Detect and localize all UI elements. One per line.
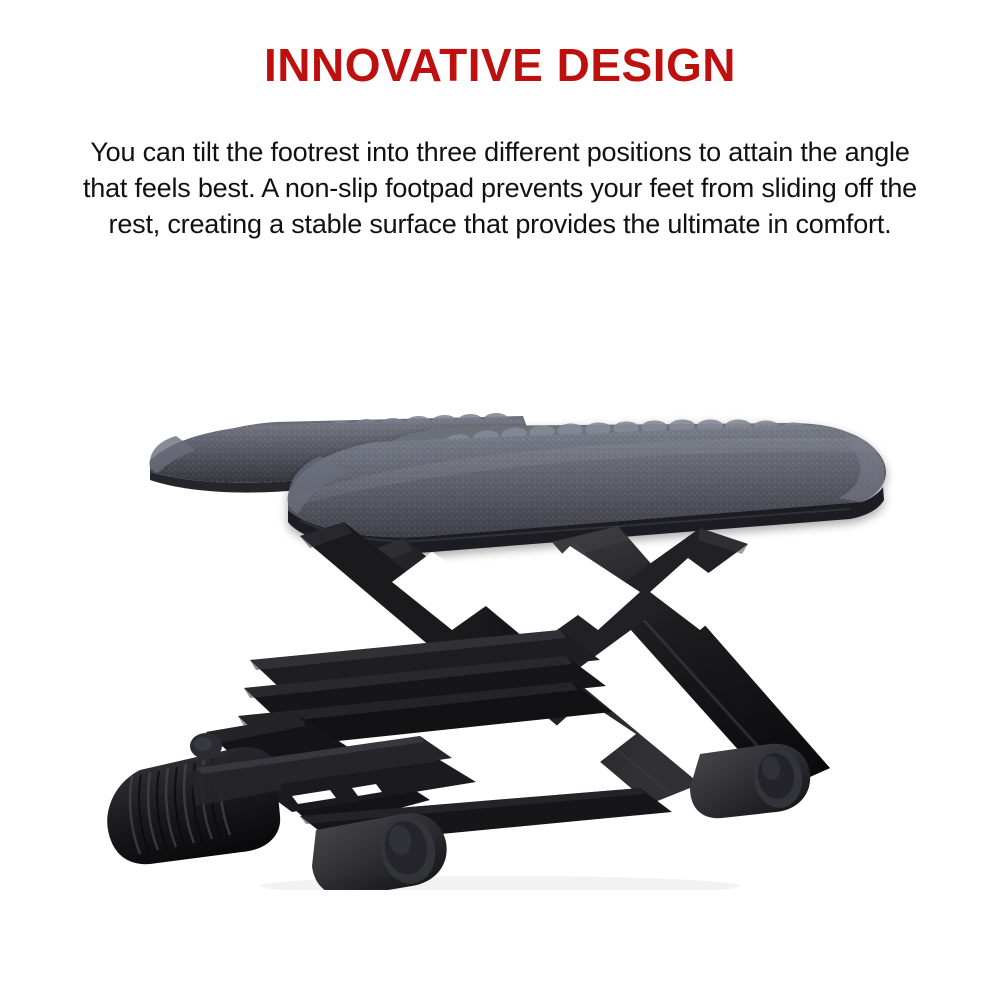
product-feature-panel: INNOVATIVE DESIGN You can tilt the footr… <box>0 0 1000 1000</box>
footrest-illustration <box>0 330 1000 890</box>
description-paragraph: You can tilt the footrest into three dif… <box>68 134 932 242</box>
product-image <box>0 330 1000 890</box>
foot-cap-rear <box>690 744 810 818</box>
page-title: INNOVATIVE DESIGN <box>0 40 1000 91</box>
